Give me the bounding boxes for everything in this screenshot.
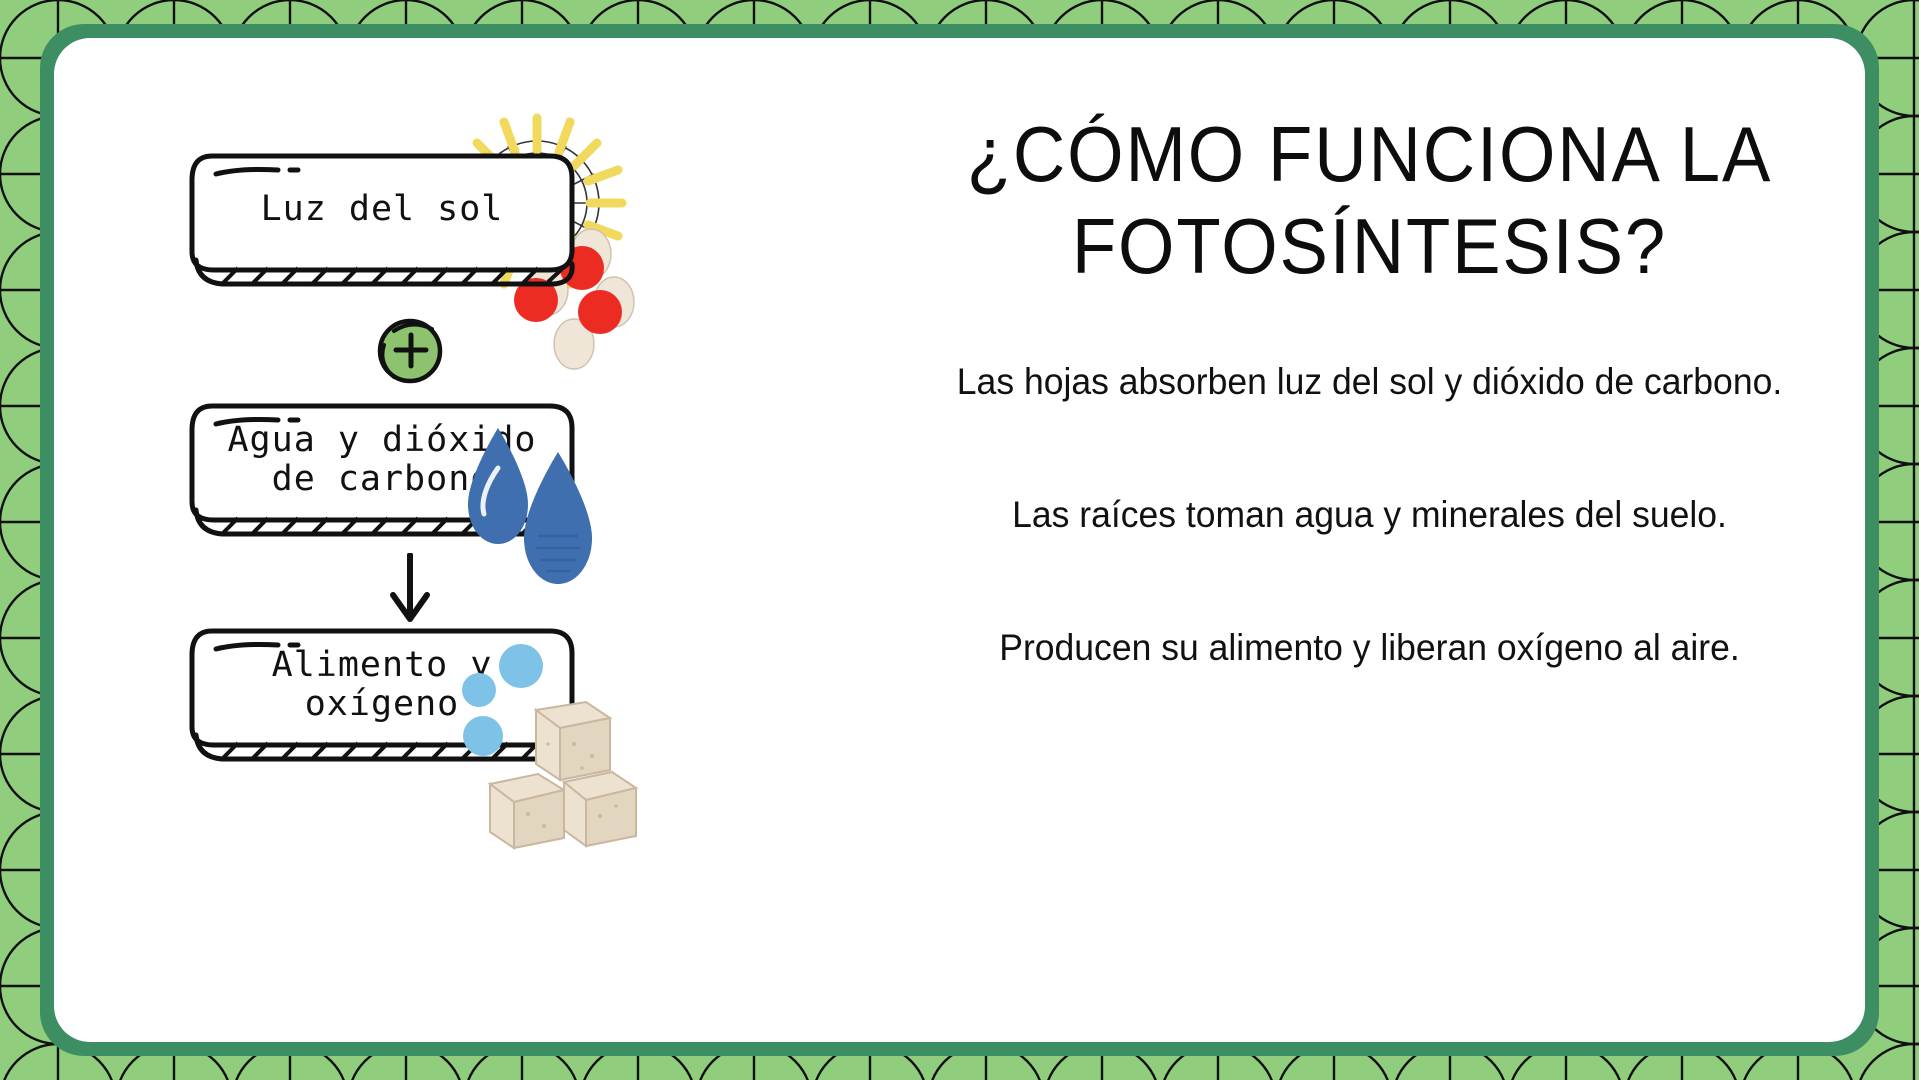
text-column: ¿CÓMO FUNCIONA LA FOTOSÍNTESIS? Las hoja…	[874, 38, 1865, 1042]
paragraph: Las hojas absorben luz del sol y dióxido…	[894, 358, 1845, 407]
plus-connector-icon	[374, 315, 446, 387]
paragraph: Las raíces toman agua y minerales del su…	[894, 491, 1845, 540]
flow-diagram: Luz del sol Agua y dióxido de	[54, 38, 874, 1042]
paragraph: Producen su alimento y liberan oxígeno a…	[894, 624, 1845, 673]
water-drop-icon	[454, 418, 614, 598]
content-card: Luz del sol Agua y dióxido de	[54, 38, 1865, 1042]
flow-step-label: Luz del sol	[182, 148, 582, 272]
down-arrow-icon	[387, 553, 433, 625]
paragraph-list: Las hojas absorben luz del sol y dióxido…	[874, 358, 1865, 756]
page-title: ¿CÓMO FUNCIONA LA FOTOSÍNTESIS?	[909, 108, 1831, 292]
flow-step-sunlight[interactable]: Luz del sol	[182, 148, 582, 296]
sugar-cube-icon	[474, 688, 644, 858]
